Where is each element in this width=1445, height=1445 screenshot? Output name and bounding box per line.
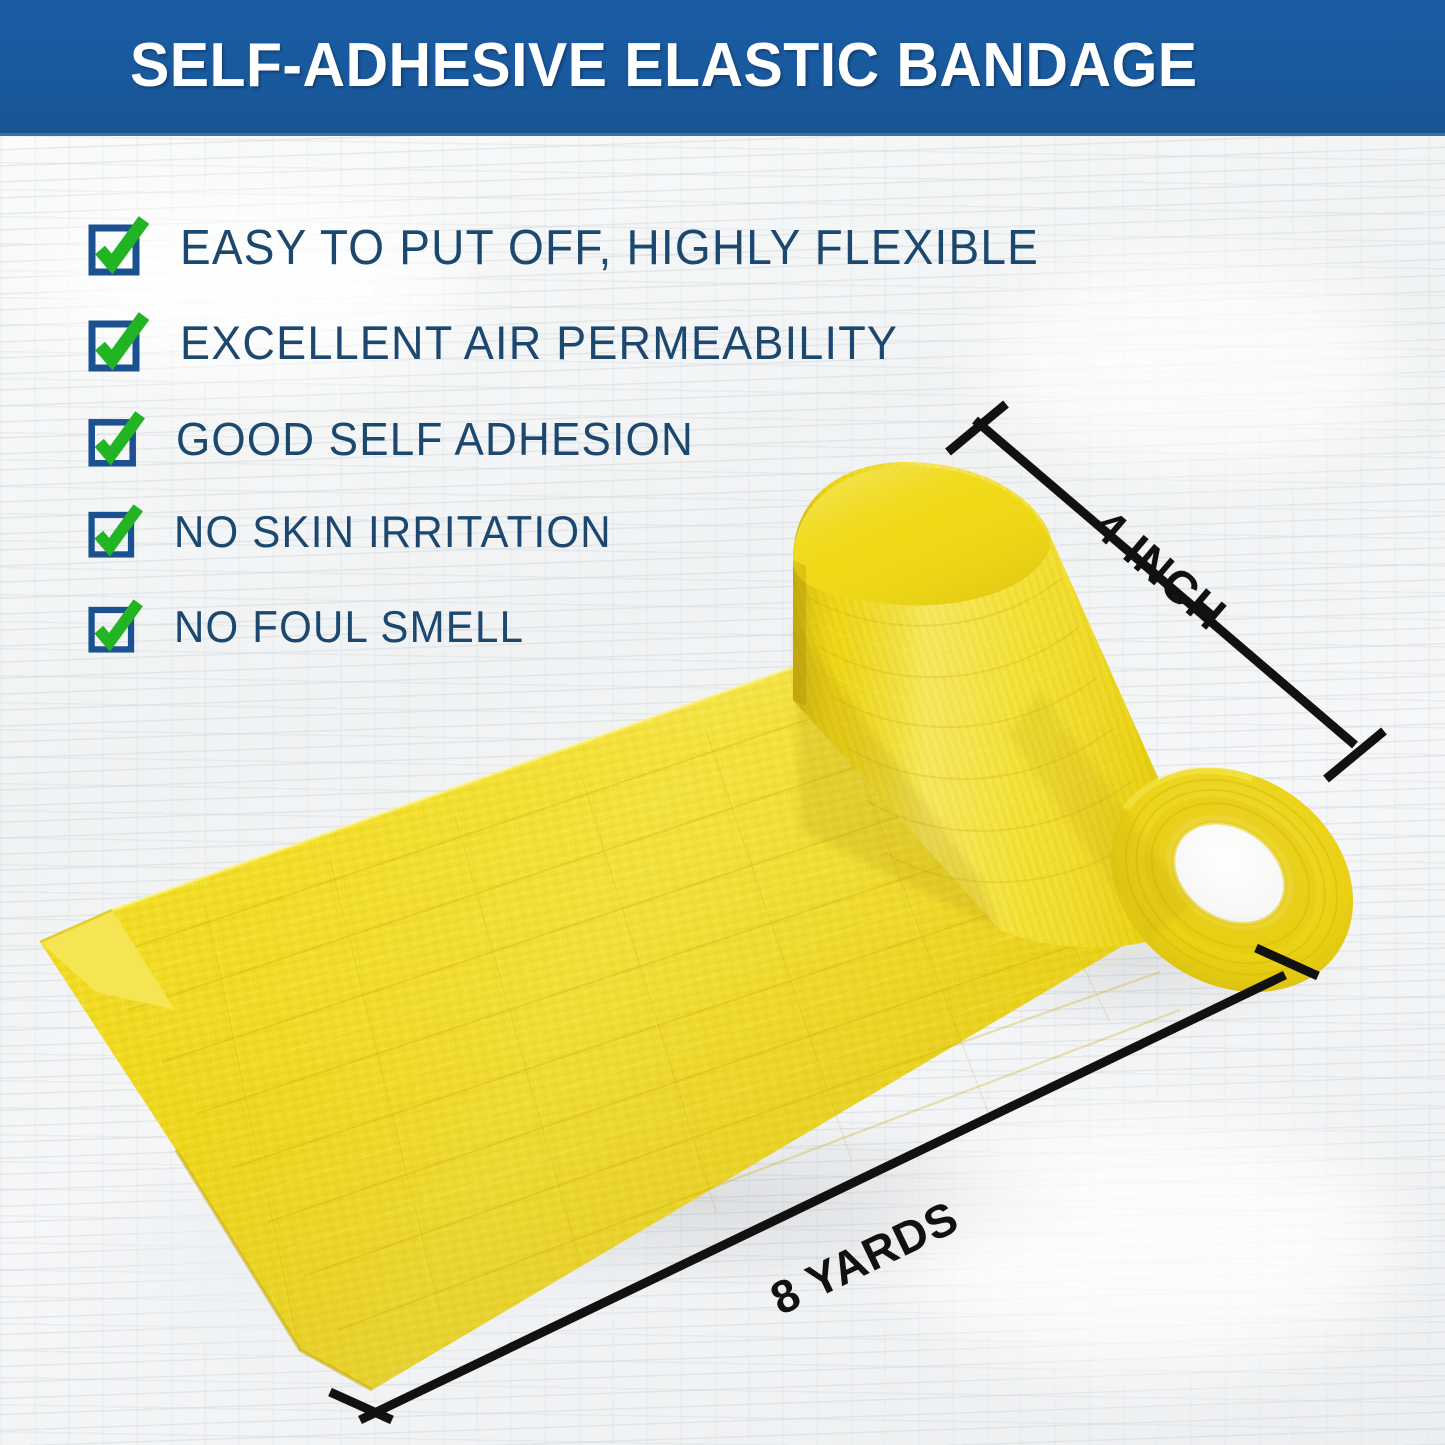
checkbox-checked-icon xyxy=(88,218,146,276)
checkbox-checked-icon xyxy=(88,601,140,653)
background-highlight xyxy=(900,1113,1400,1373)
background-shade xyxy=(120,1153,640,1353)
checkbox-checked-icon xyxy=(88,314,146,372)
feature-label: NO SKIN IRRITATION xyxy=(174,507,612,558)
feature-label: EASY TO PUT OFF, HIGHLY FLEXIBLE xyxy=(180,218,1039,275)
feature-item: GOOD SELF ADHESION xyxy=(88,413,694,467)
checkbox-checked-icon xyxy=(88,413,142,467)
feature-label: EXCELLENT AIR PERMEABILITY xyxy=(180,315,898,370)
infographic-canvas: SELF-ADHESIVE ELASTIC BANDAGE xyxy=(0,0,1445,1445)
feature-item: EXCELLENT AIR PERMEABILITY xyxy=(88,314,898,372)
feature-label: GOOD SELF ADHESION xyxy=(176,414,694,467)
feature-item: NO SKIN IRRITATION xyxy=(88,506,612,558)
feature-item: NO FOUL SMELL xyxy=(88,601,524,653)
background-highlight xyxy=(980,253,1400,473)
page-title: SELF-ADHESIVE ELASTIC BANDAGE xyxy=(130,30,1299,102)
checkbox-checked-icon xyxy=(88,506,140,558)
feature-item: EASY TO PUT OFF, HIGHLY FLEXIBLE xyxy=(88,218,1039,276)
header-banner: SELF-ADHESIVE ELASTIC BANDAGE xyxy=(0,0,1445,136)
feature-label: NO FOUL SMELL xyxy=(174,602,524,653)
